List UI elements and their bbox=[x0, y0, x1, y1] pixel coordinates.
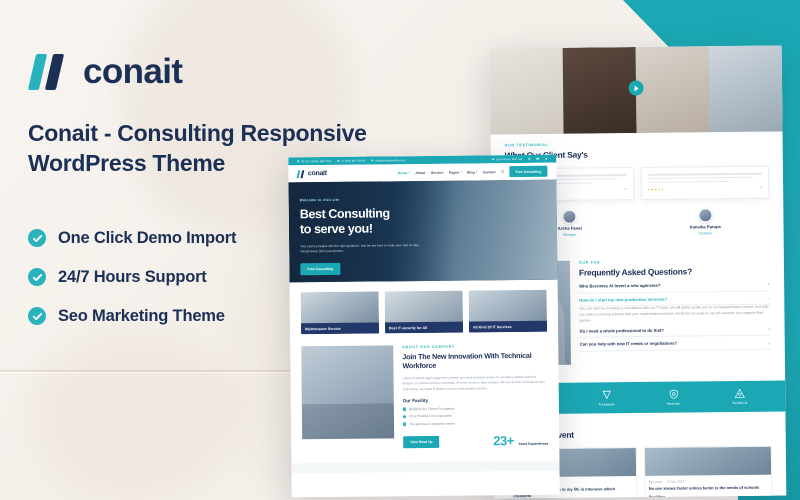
inner-hero-image bbox=[490, 45, 783, 134]
list-item: Price Trading For Cooperation bbox=[403, 413, 548, 419]
brand-logo: conait bbox=[28, 52, 428, 92]
faq-question: Do I need a whole professional to do tha… bbox=[580, 328, 664, 334]
clock-icon bbox=[492, 158, 494, 160]
list-item: The services to operative center bbox=[403, 421, 548, 427]
list-item: One Click Demo Import bbox=[28, 229, 428, 248]
list-item: Kaneika Parups Designer bbox=[641, 208, 770, 236]
conait-logo-mark-icon bbox=[28, 52, 72, 92]
faq-item[interactable]: Who Becomes At Invert a new agencies?+ bbox=[579, 282, 770, 293]
shield-icon bbox=[668, 389, 679, 400]
faq-answer: You can start by choosing a consultation… bbox=[579, 305, 770, 325]
nav-item-blog[interactable]: Blog▾ bbox=[467, 170, 477, 174]
faq-question: How do I start my new production service… bbox=[579, 296, 667, 302]
check-circle-icon bbox=[28, 268, 46, 286]
feature-list: One Click Demo Import 24/7 Hours Support… bbox=[28, 229, 428, 326]
facebook-icon[interactable] bbox=[528, 158, 530, 160]
background-fold-highlight bbox=[0, 372, 300, 373]
chevron-down-icon: ▾ bbox=[476, 170, 477, 173]
counter-number: 23+ bbox=[493, 433, 514, 448]
about-facility-title: Our Facility bbox=[403, 397, 548, 404]
nav-item-service[interactable]: Service bbox=[431, 170, 444, 174]
check-circle-icon bbox=[28, 307, 46, 325]
blog-thumbnail bbox=[644, 447, 771, 476]
client-name: Treamade bbox=[598, 402, 614, 406]
nav-item-pages[interactable]: Pages▾ bbox=[449, 170, 462, 174]
list-item: 24/7 Hours Support bbox=[28, 268, 428, 287]
person-name: Kaneika Parups bbox=[690, 224, 721, 229]
quote-icon: ❞ bbox=[624, 187, 626, 192]
bullet-check-icon bbox=[403, 422, 406, 425]
play-icon[interactable] bbox=[628, 81, 643, 96]
person-name: Arsha Fanet bbox=[558, 226, 582, 231]
triangle-icon bbox=[734, 388, 745, 399]
background-blob bbox=[30, 330, 240, 500]
plus-icon: + bbox=[768, 327, 771, 332]
person-role: Designer bbox=[699, 231, 713, 235]
faq-item[interactable]: How do I start my new production service… bbox=[579, 295, 770, 324]
bullet-check-icon bbox=[403, 415, 406, 418]
list-item: Building Our Theme Foundation bbox=[403, 406, 548, 412]
minus-icon: − bbox=[768, 295, 771, 300]
feature-label: One Click Demo Import bbox=[58, 229, 236, 248]
counter-label: Years Experiences bbox=[518, 442, 548, 446]
quote-icon: ❞ bbox=[760, 186, 762, 191]
client-name: Techbird bbox=[732, 401, 747, 405]
list-item: Seo Marketing Theme bbox=[28, 307, 428, 326]
blog-card[interactable]: By Conait 12 Oct, 2024 No one knows fast… bbox=[643, 446, 772, 499]
faq-item[interactable]: Can you help with new IT needs or negoti… bbox=[580, 340, 771, 351]
section-kicker: Our Faq bbox=[579, 259, 770, 265]
client-logo[interactable]: Navlum bbox=[667, 389, 680, 406]
about-image bbox=[301, 345, 394, 439]
service-card[interactable]: All Kind Of IT Services bbox=[469, 290, 547, 333]
blog-date: 12 Oct, 2024 bbox=[667, 480, 684, 484]
faq-item[interactable]: Do I need a whole professional to do tha… bbox=[580, 326, 771, 337]
plus-icon: + bbox=[767, 282, 770, 287]
feature-label: 24/7 Hours Support bbox=[58, 268, 207, 287]
client-name: Navlum bbox=[667, 402, 680, 406]
bullet-check-icon bbox=[403, 407, 406, 410]
brand-wordmark: conait bbox=[83, 52, 182, 92]
logo-bar-teal bbox=[28, 54, 47, 90]
avatar bbox=[698, 208, 712, 222]
about-paragraph: Liberal of clients begin target their co… bbox=[403, 374, 548, 392]
faq-accordion: Who Becomes At Invert a new agencies?+ H… bbox=[579, 282, 771, 352]
search-icon[interactable]: ⚲ bbox=[501, 169, 504, 174]
topbar-hours: Open Hours: Mon-Sat bbox=[492, 157, 522, 160]
plus-icon: + bbox=[768, 340, 771, 345]
faq-question: Who Becomes At Invert a new agencies? bbox=[579, 283, 660, 289]
about-section: About Our Company Join The New Innovatio… bbox=[290, 344, 559, 464]
instagram-icon[interactable] bbox=[545, 157, 547, 159]
section-kicker: About Our Company bbox=[402, 344, 547, 350]
blog-author: By Conait bbox=[649, 480, 662, 484]
twitter-icon[interactable] bbox=[536, 158, 538, 160]
blog-title: No one knows faster unless factor is the… bbox=[649, 485, 768, 492]
page-bottom-strip bbox=[291, 460, 559, 473]
check-circle-icon bbox=[28, 229, 46, 247]
arrow-logo-icon bbox=[601, 389, 612, 400]
client-logo[interactable]: Treamade bbox=[598, 389, 615, 406]
testimonial-card[interactable]: ❞ bbox=[640, 166, 769, 201]
star-rating-icon bbox=[648, 188, 664, 191]
promo-panel: conait Conait - Consulting Responsive Wo… bbox=[28, 52, 428, 326]
experience-counter: 23+ Years Experiences bbox=[493, 432, 548, 451]
chevron-down-icon: ▾ bbox=[460, 171, 461, 174]
service-card-label: All Kind Of IT Services bbox=[469, 321, 547, 333]
faq-question: Can you help with new IT needs or negoti… bbox=[580, 341, 677, 347]
nav-item-contact[interactable]: Contact bbox=[483, 170, 496, 174]
section-kicker: Our Testimonial bbox=[505, 141, 769, 148]
free-consulting-button[interactable]: Free Consulting bbox=[510, 166, 548, 177]
about-heading: Join The New Innovation With Technical W… bbox=[402, 351, 547, 371]
logo-bar-navy bbox=[45, 54, 64, 90]
avatar bbox=[563, 210, 577, 224]
feature-label: Seo Marketing Theme bbox=[58, 307, 225, 326]
about-cta-button[interactable]: View Read Up bbox=[403, 436, 439, 448]
page-title: Conait - Consulting Responsive WordPress… bbox=[28, 118, 378, 179]
client-logo[interactable]: Techbird bbox=[732, 388, 747, 405]
section-heading: Frequently Asked Questions? bbox=[579, 266, 770, 278]
person-role: Manager bbox=[563, 233, 576, 237]
